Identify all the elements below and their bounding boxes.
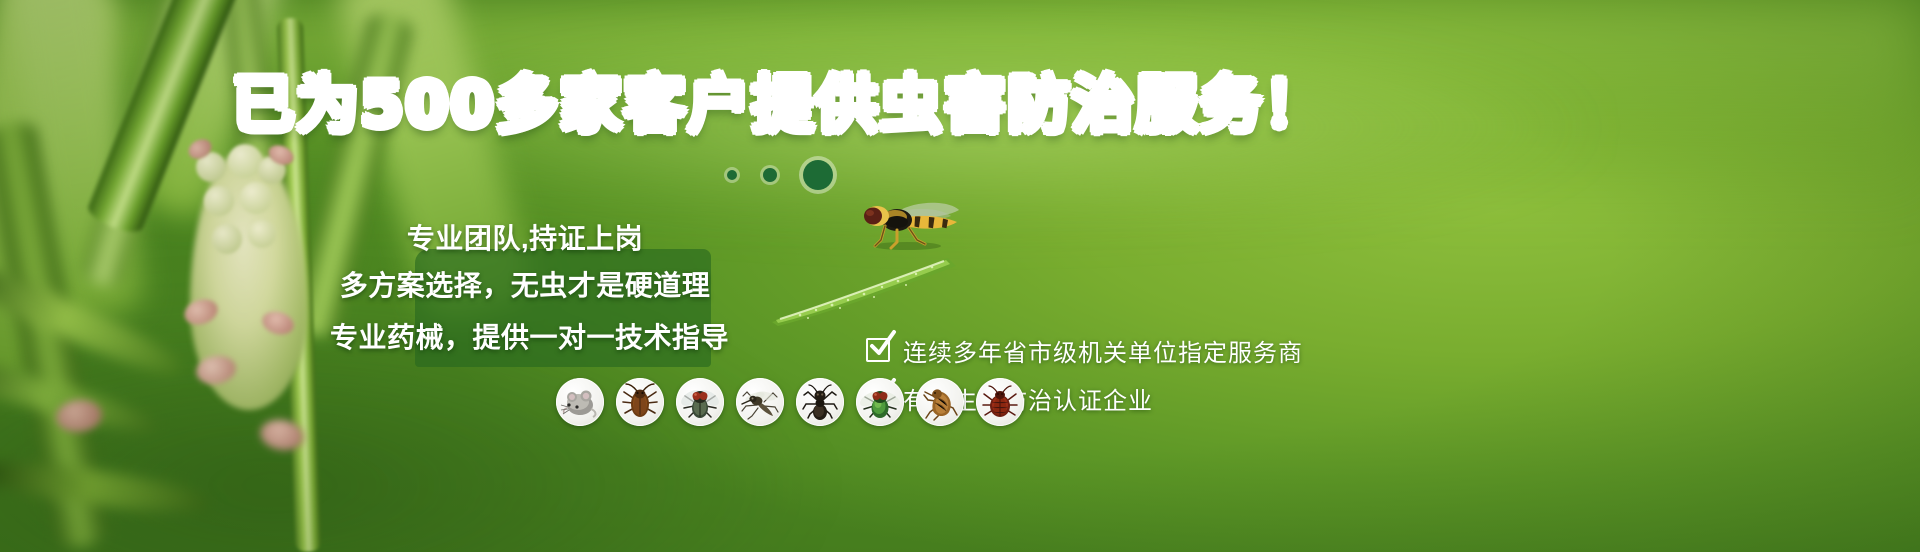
pest-control-banner: 已为500多家客户提供虫害防治服务！ — [0, 0, 1920, 552]
check-item-1: 连续多年省市级机关单位指定服务商 — [866, 326, 1303, 374]
dot-medium-icon — [763, 168, 777, 182]
flea-icon[interactable] — [916, 378, 964, 426]
fly-icon[interactable] — [676, 378, 724, 426]
panel-line-3: 专业药械，提供一对一技术指导 — [330, 312, 720, 364]
hoverfly-icon — [845, 196, 965, 252]
blowfly-icon[interactable] — [856, 378, 904, 426]
panel-line-1: 专业团队,持证上岗 — [330, 218, 720, 260]
mosquito-icon[interactable] — [736, 378, 784, 426]
bedbug-icon[interactable] — [976, 378, 1024, 426]
dot-small-icon — [727, 170, 737, 180]
ant-icon[interactable] — [796, 378, 844, 426]
highlight-panel-text: 专业团队,持证上岗 多方案选择，无虫才是硬道理 专业药械，提供一对一技术指导 — [330, 218, 720, 364]
pest-icon-row — [556, 378, 1024, 426]
cockroach-icon[interactable] — [616, 378, 664, 426]
decorative-dots — [0, 160, 1560, 190]
mouse-icon[interactable] — [556, 378, 604, 426]
page-title: 已为500多家客户提供虫害防治服务！ — [0, 74, 1560, 136]
check-item-1-label: 连续多年省市级机关单位指定服务商 — [903, 333, 1303, 368]
dot-large-icon — [803, 160, 833, 190]
page-title-text: 已为500多家客户提供虫害防治服务！ — [232, 68, 1327, 141]
panel-line-2: 多方案选择，无虫才是硬道理 — [330, 260, 720, 312]
checkbox-checked-icon — [866, 338, 890, 362]
